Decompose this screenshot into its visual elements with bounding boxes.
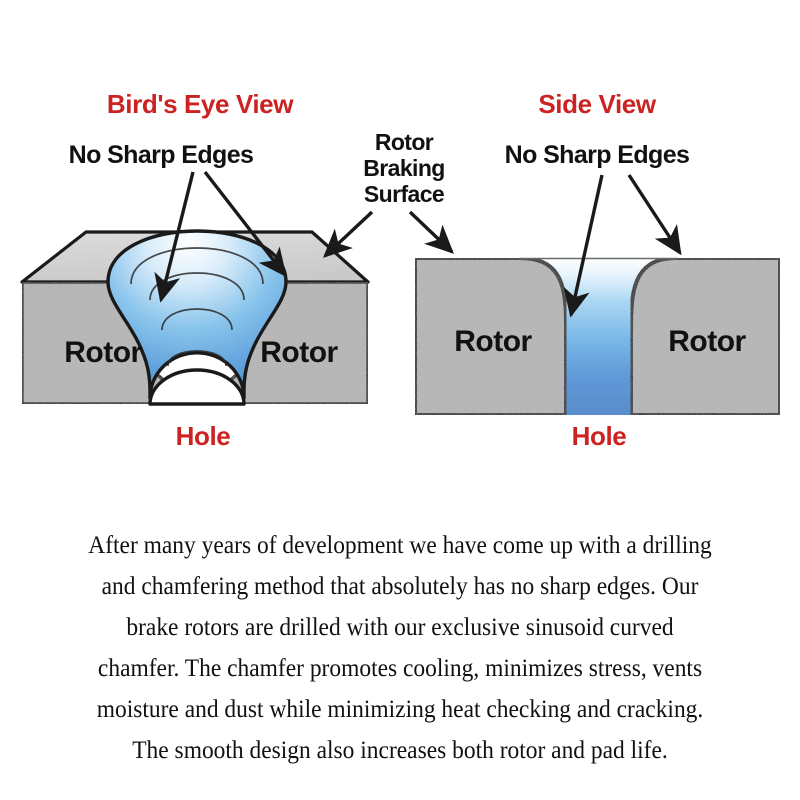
- birds-eye-title: Bird's Eye View: [107, 89, 294, 119]
- diagram-figures: Bird's Eye View No Sharp Edges Rotor: [0, 0, 800, 470]
- birds-eye-no-sharp-edges-label: No Sharp Edges: [69, 141, 254, 169]
- arrow-rotor-braking-surface-to-birds-eye: [325, 212, 372, 256]
- description-line-2: and chamfering method that absolutely ha…: [39, 565, 760, 606]
- description-paragraph: After many years of development we have …: [39, 524, 760, 770]
- side-view-title: Side View: [538, 89, 656, 119]
- rotor-braking-surface-label-line3: Surface: [364, 181, 444, 207]
- birds-eye-view-group: Bird's Eye View No Sharp Edges Rotor: [22, 89, 368, 451]
- side-view-rotor-label-right: Rotor: [668, 325, 746, 358]
- description-line-3: brake rotors are drilled with our exclus…: [39, 606, 760, 647]
- side-view-no-sharp-edges-label: No Sharp Edges: [505, 141, 690, 169]
- birds-eye-rotor-label-left: Rotor: [64, 336, 142, 369]
- arrow-rotor-braking-surface-to-side-view: [410, 212, 452, 252]
- side-view-rotor-label-left: Rotor: [454, 325, 532, 358]
- description-line-5: moisture and dust while minimizing heat …: [39, 688, 760, 729]
- rotor-braking-surface-label-line1: Rotor: [375, 129, 434, 155]
- diagram-page: Bird's Eye View No Sharp Edges Rotor: [0, 0, 800, 800]
- description-line-4: chamfer. The chamfer promotes cooling, m…: [39, 647, 760, 688]
- birds-eye-hole-label: Hole: [176, 421, 231, 451]
- description-line-1: After many years of development we have …: [39, 524, 760, 565]
- side-view-group: Side View No Sharp Edges Rotor Rotor Hol…: [415, 89, 780, 451]
- birds-eye-hole-mouth: [150, 370, 244, 404]
- side-view-arrow-no-sharp-edges-right: [629, 175, 680, 253]
- birds-eye-rotor-label-right: Rotor: [260, 336, 338, 369]
- description-line-6: The smooth design also increases both ro…: [39, 729, 760, 770]
- rotor-braking-surface-callout-group: Rotor Braking Surface: [325, 129, 452, 256]
- side-view-hole-label: Hole: [572, 421, 627, 451]
- rotor-braking-surface-label-line2: Braking: [363, 155, 444, 181]
